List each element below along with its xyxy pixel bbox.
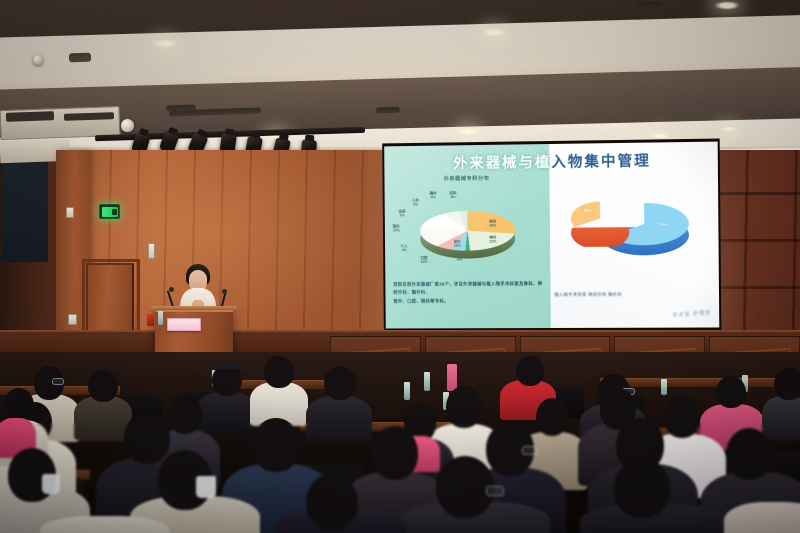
person-head <box>614 458 670 518</box>
water-bottle <box>661 379 667 395</box>
right-slide-footnote: 植入物手术科室 神经外科 胸外科 <box>554 291 714 298</box>
left-chart-caption: 外来器械专科分布 <box>384 174 549 183</box>
fire-alarm-button[interactable] <box>147 314 154 326</box>
ceiling-vent <box>69 53 91 63</box>
ceiling-camera-icon <box>33 55 43 65</box>
pie-label: 口腔10% <box>420 257 427 265</box>
wall-switch-plate[interactable] <box>66 207 74 218</box>
person-head <box>372 426 418 480</box>
pie-label: 妇科4% <box>449 192 456 200</box>
speaker-name-card <box>167 318 201 331</box>
exit-sign-icon <box>102 207 118 217</box>
person-torso <box>724 502 800 533</box>
ceiling-vent <box>166 104 196 111</box>
person-head <box>306 474 358 530</box>
person-head <box>774 368 800 400</box>
left-pie-chart: 骨科26% 神外22% 普外14% 眼科4% 胸外5% 妇科4% 儿外3% 泌尿… <box>398 188 539 267</box>
person-head <box>536 398 568 436</box>
projection-screen: 外来器械专科分布 骨科26% 神外22% 普外14% 眼科4% 胸外5% 妇科4… <box>382 139 721 332</box>
ceiling-vent <box>637 2 661 10</box>
pie-label: 胸外5% <box>430 192 437 200</box>
emergency-exit-sign <box>99 204 120 219</box>
ceiling-camera-icon <box>121 119 134 132</box>
person-head <box>324 366 356 400</box>
ceiling-vent <box>376 107 400 114</box>
ceiling-downlight <box>720 126 738 132</box>
person-torso <box>40 516 170 533</box>
ceiling-downlight <box>714 1 740 10</box>
pie-label: 整形10% <box>393 225 400 233</box>
microphone-head-icon <box>222 289 227 294</box>
audience-area <box>0 352 800 533</box>
eyeglasses <box>52 378 64 385</box>
podium-water-bottle <box>158 311 163 325</box>
person-head <box>124 412 170 464</box>
person-head <box>726 428 772 480</box>
face-mask <box>196 476 216 498</box>
ceiling-downlight <box>152 39 178 48</box>
right-pie-chart: 70% 30% <box>566 180 704 268</box>
pie-value-label: 神外22% <box>489 236 496 244</box>
pie-value-orange: 30% <box>584 209 592 213</box>
ceiling-downlight <box>651 133 669 139</box>
pie-value-blue: 70% <box>659 223 667 227</box>
person-head <box>264 356 294 388</box>
eyeglasses <box>486 486 504 496</box>
person-head <box>4 388 34 422</box>
microphone-head-icon <box>169 287 174 292</box>
ac-grille <box>6 111 54 122</box>
person-head <box>168 394 202 434</box>
eyeglasses <box>522 446 538 455</box>
conference-hall-photo: 外来器械专科分布 骨科26% 神外22% 普外14% 眼科4% 胸外5% 妇科4… <box>0 0 800 533</box>
person-torso <box>306 396 372 442</box>
ceiling-downlight <box>481 28 507 37</box>
person-head <box>664 396 700 438</box>
person-torso <box>762 396 800 440</box>
ceiling-downlight <box>458 128 478 135</box>
pie-value-label: 普外14% <box>454 241 461 249</box>
wall-switch-plate[interactable] <box>148 243 155 259</box>
person-head <box>252 418 300 472</box>
person-torso <box>196 392 256 436</box>
pie-label: 泌尿7% <box>398 211 405 219</box>
person-head <box>516 356 544 386</box>
pie-label: 介入3% <box>401 245 408 253</box>
pie-value-label: 眼科4% <box>456 255 463 263</box>
pie-slices <box>420 210 515 251</box>
pie-3d-top <box>420 210 515 251</box>
pie-value-label: 骨科26% <box>489 221 496 229</box>
person-head <box>88 370 118 402</box>
water-bottle <box>404 382 410 400</box>
left-slide-body: 我院目前外来器械厂家38个，涉及外来器械与植入物手术科室及骨科、神经外科、胸外科… <box>393 280 544 307</box>
person-head <box>446 386 482 428</box>
slide-title: 外来器械与植入物集中管理 <box>384 148 719 175</box>
water-bottle <box>424 372 430 391</box>
face-mask <box>42 474 60 494</box>
side-window <box>2 152 48 262</box>
hair-band <box>214 363 240 369</box>
right-slide-signature: 手术室 护理部 <box>672 309 711 319</box>
person-head <box>716 376 746 408</box>
projected-slide: 外来器械专科分布 骨科26% 神外22% 普外14% 眼科4% 胸外5% 妇科4… <box>384 142 719 329</box>
pie-label: 儿外3% <box>412 199 419 207</box>
wall-switch-plate[interactable] <box>68 314 77 325</box>
